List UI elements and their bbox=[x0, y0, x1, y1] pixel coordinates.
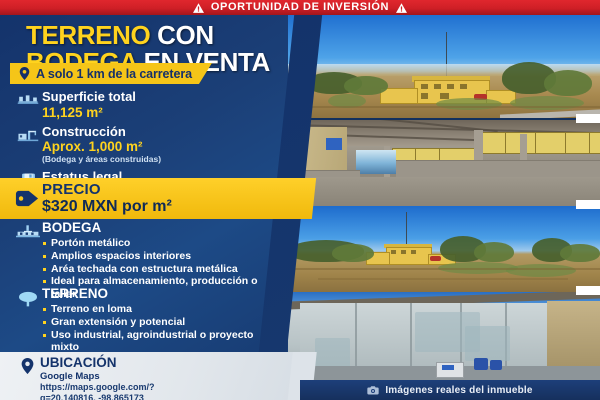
spec-row-construccion: Construcción Aprox. 1,000 m² (Bodega y á… bbox=[14, 125, 276, 165]
location-subtitle: Google Maps bbox=[40, 371, 155, 382]
photo-separator bbox=[576, 114, 600, 123]
list-item: Gran extensión y potencial bbox=[42, 316, 280, 328]
distance-ribbon: A solo 1 km de la carretera bbox=[10, 63, 212, 84]
warning-triangle-icon bbox=[396, 3, 407, 13]
list-item: Portón metálico bbox=[42, 237, 280, 249]
feature-title-bodega: BODEGA bbox=[42, 221, 280, 236]
list-item: Aréa techada con estructura metálica bbox=[42, 263, 280, 275]
land-plot-icon bbox=[17, 92, 39, 106]
photo-column bbox=[288, 0, 600, 400]
location-url-line2[interactable]: q=20.140816, -98.865173 bbox=[40, 393, 155, 400]
photo-land-panorama bbox=[288, 206, 600, 292]
feature-title-terreno: TERRENO bbox=[42, 287, 280, 302]
price-value: $320 MXN por m² bbox=[42, 198, 172, 215]
photo-separator bbox=[576, 200, 600, 209]
construction-icon bbox=[17, 127, 39, 142]
top-banner-label: OPORTUNIDAD DE INVERSIÓN bbox=[211, 2, 389, 13]
photo-caption-label: Imágenes reales del inmueble bbox=[385, 385, 532, 396]
spec-label-superficie: Superficie total bbox=[42, 90, 276, 105]
tree-icon bbox=[16, 290, 40, 308]
photo-caption-bar: Imágenes reales del inmueble bbox=[300, 380, 600, 400]
list-item: Amplios espacios interiores bbox=[42, 250, 280, 262]
camera-icon bbox=[367, 386, 379, 395]
list-item: Terreno en loma bbox=[42, 303, 280, 315]
top-banner: OPORTUNIDAD DE INVERSIÓN bbox=[0, 0, 600, 15]
spec-value-construccion: Aprox. 1,000 m² bbox=[42, 139, 276, 154]
headline-line1-secondary: CON bbox=[157, 20, 214, 50]
real-estate-flyer: TERRENO CON BODEGA EN VENTA A solo 1 km … bbox=[0, 0, 600, 400]
photo-warehouse-interior bbox=[288, 120, 600, 206]
location-url-line1[interactable]: https://maps.google.com/? bbox=[40, 382, 155, 393]
list-item: Uso industrial, agroindustrial o proyect… bbox=[42, 329, 280, 354]
location-title: UBICACIÓN bbox=[40, 356, 155, 371]
photo-separator bbox=[576, 286, 600, 295]
price-tag-icon bbox=[15, 190, 39, 207]
spec-label-construccion: Construcción bbox=[42, 125, 276, 140]
spec-row-superficie: Superficie total 11,125 m² bbox=[14, 90, 276, 120]
price-bar: PRECIO $320 MXN por m² bbox=[0, 178, 302, 219]
price-label: PRECIO bbox=[42, 182, 172, 198]
warning-triangle-icon bbox=[193, 3, 204, 13]
spec-note-construccion: (Bodega y áreas construidas) bbox=[42, 155, 276, 165]
photo-warehouse-metal-gate bbox=[288, 292, 600, 380]
factory-icon bbox=[16, 224, 40, 241]
map-pin-icon bbox=[21, 358, 34, 374]
photo-aerial-land-with-yellow-building bbox=[288, 14, 600, 118]
distance-ribbon-label: A solo 1 km de la carretera bbox=[36, 67, 192, 81]
map-pin-icon bbox=[19, 67, 30, 80]
spec-value-superficie: 11,125 m² bbox=[42, 105, 276, 120]
headline-line1-primary: TERRENO bbox=[26, 20, 150, 50]
location-block: UBICACIÓN Google Maps https://maps.googl… bbox=[0, 352, 302, 400]
